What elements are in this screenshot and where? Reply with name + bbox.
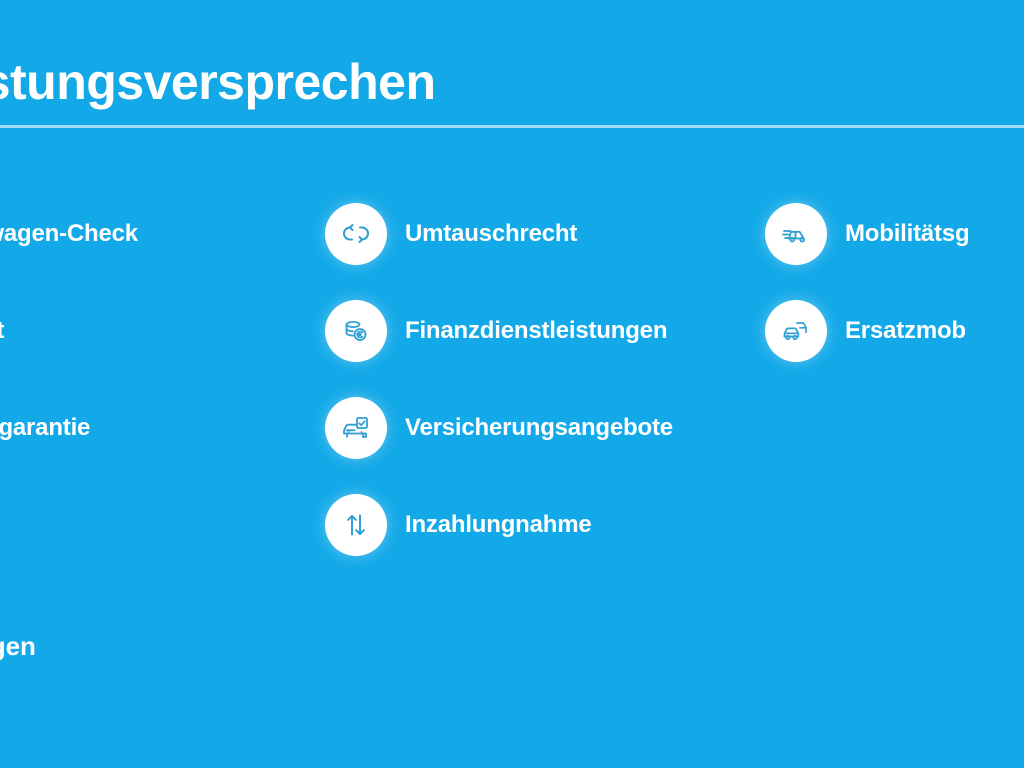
feature-item[interactable]: Umtauschrecht bbox=[325, 185, 765, 282]
certified-badge-line2: Gebrauchtwagen bbox=[0, 631, 36, 662]
feature-item[interactable]: Finanzdienstleistungen bbox=[325, 282, 765, 379]
certified-badge: Zertifizierte Gebrauchtwagen bbox=[0, 600, 385, 662]
feature-label: ualitätszertifikat bbox=[0, 317, 4, 345]
feature-label: Ersatzmob bbox=[845, 317, 966, 345]
header: ere Leistungsversprechen bbox=[0, 52, 1024, 112]
feature-item[interactable]: artungsfreiheit bbox=[0, 476, 325, 573]
feature-item[interactable]: ebrauchtwagengarantie bbox=[0, 379, 325, 476]
exchange-arrows-icon bbox=[325, 203, 387, 265]
column-middle: Umtauschrecht Finanzdienstleistungen bbox=[325, 185, 765, 573]
feature-item[interactable]: 60° Gebrauchtwagen-Check bbox=[0, 185, 325, 282]
certified-badge-text: Zertifizierte Gebrauchtwagen bbox=[0, 600, 36, 662]
feature-label: Finanzdienstleistungen bbox=[405, 317, 667, 345]
feature-label: Umtauschrecht bbox=[405, 220, 577, 248]
feature-label: Mobilitätsg bbox=[845, 220, 969, 248]
header-divider bbox=[0, 125, 1024, 128]
column-right: Mobilitätsg Ersatzmob bbox=[765, 185, 1024, 573]
slide-canvas: ere Leistungsversprechen 60° Gebrauchtwa… bbox=[0, 0, 1024, 768]
car-motion-icon bbox=[765, 203, 827, 265]
feature-label: Versicherungsangebote bbox=[405, 414, 673, 442]
page-title: ere Leistungsversprechen bbox=[0, 52, 1024, 112]
feature-label: Inzahlungnahme bbox=[405, 511, 592, 539]
feature-item[interactable]: Versicherungsangebote bbox=[325, 379, 765, 476]
features-grid: 60° Gebrauchtwagen-Check ualitätszertifi… bbox=[0, 185, 1024, 573]
certified-badge-line1: Zertifizierte bbox=[0, 600, 36, 631]
up-down-arrows-icon bbox=[325, 494, 387, 556]
feature-label: ebrauchtwagengarantie bbox=[0, 414, 90, 442]
coins-euro-icon bbox=[325, 300, 387, 362]
feature-label: 60° Gebrauchtwagen-Check bbox=[0, 220, 138, 248]
two-cars-icon bbox=[765, 300, 827, 362]
car-checklist-icon bbox=[325, 397, 387, 459]
feature-item[interactable]: Ersatzmob bbox=[765, 282, 1024, 379]
column-left: 60° Gebrauchtwagen-Check ualitätszertifi… bbox=[0, 185, 325, 573]
feature-item[interactable]: Inzahlungnahme bbox=[325, 476, 765, 573]
feature-item[interactable]: Mobilitätsg bbox=[765, 185, 1024, 282]
feature-item[interactable]: ualitätszertifikat bbox=[0, 282, 325, 379]
